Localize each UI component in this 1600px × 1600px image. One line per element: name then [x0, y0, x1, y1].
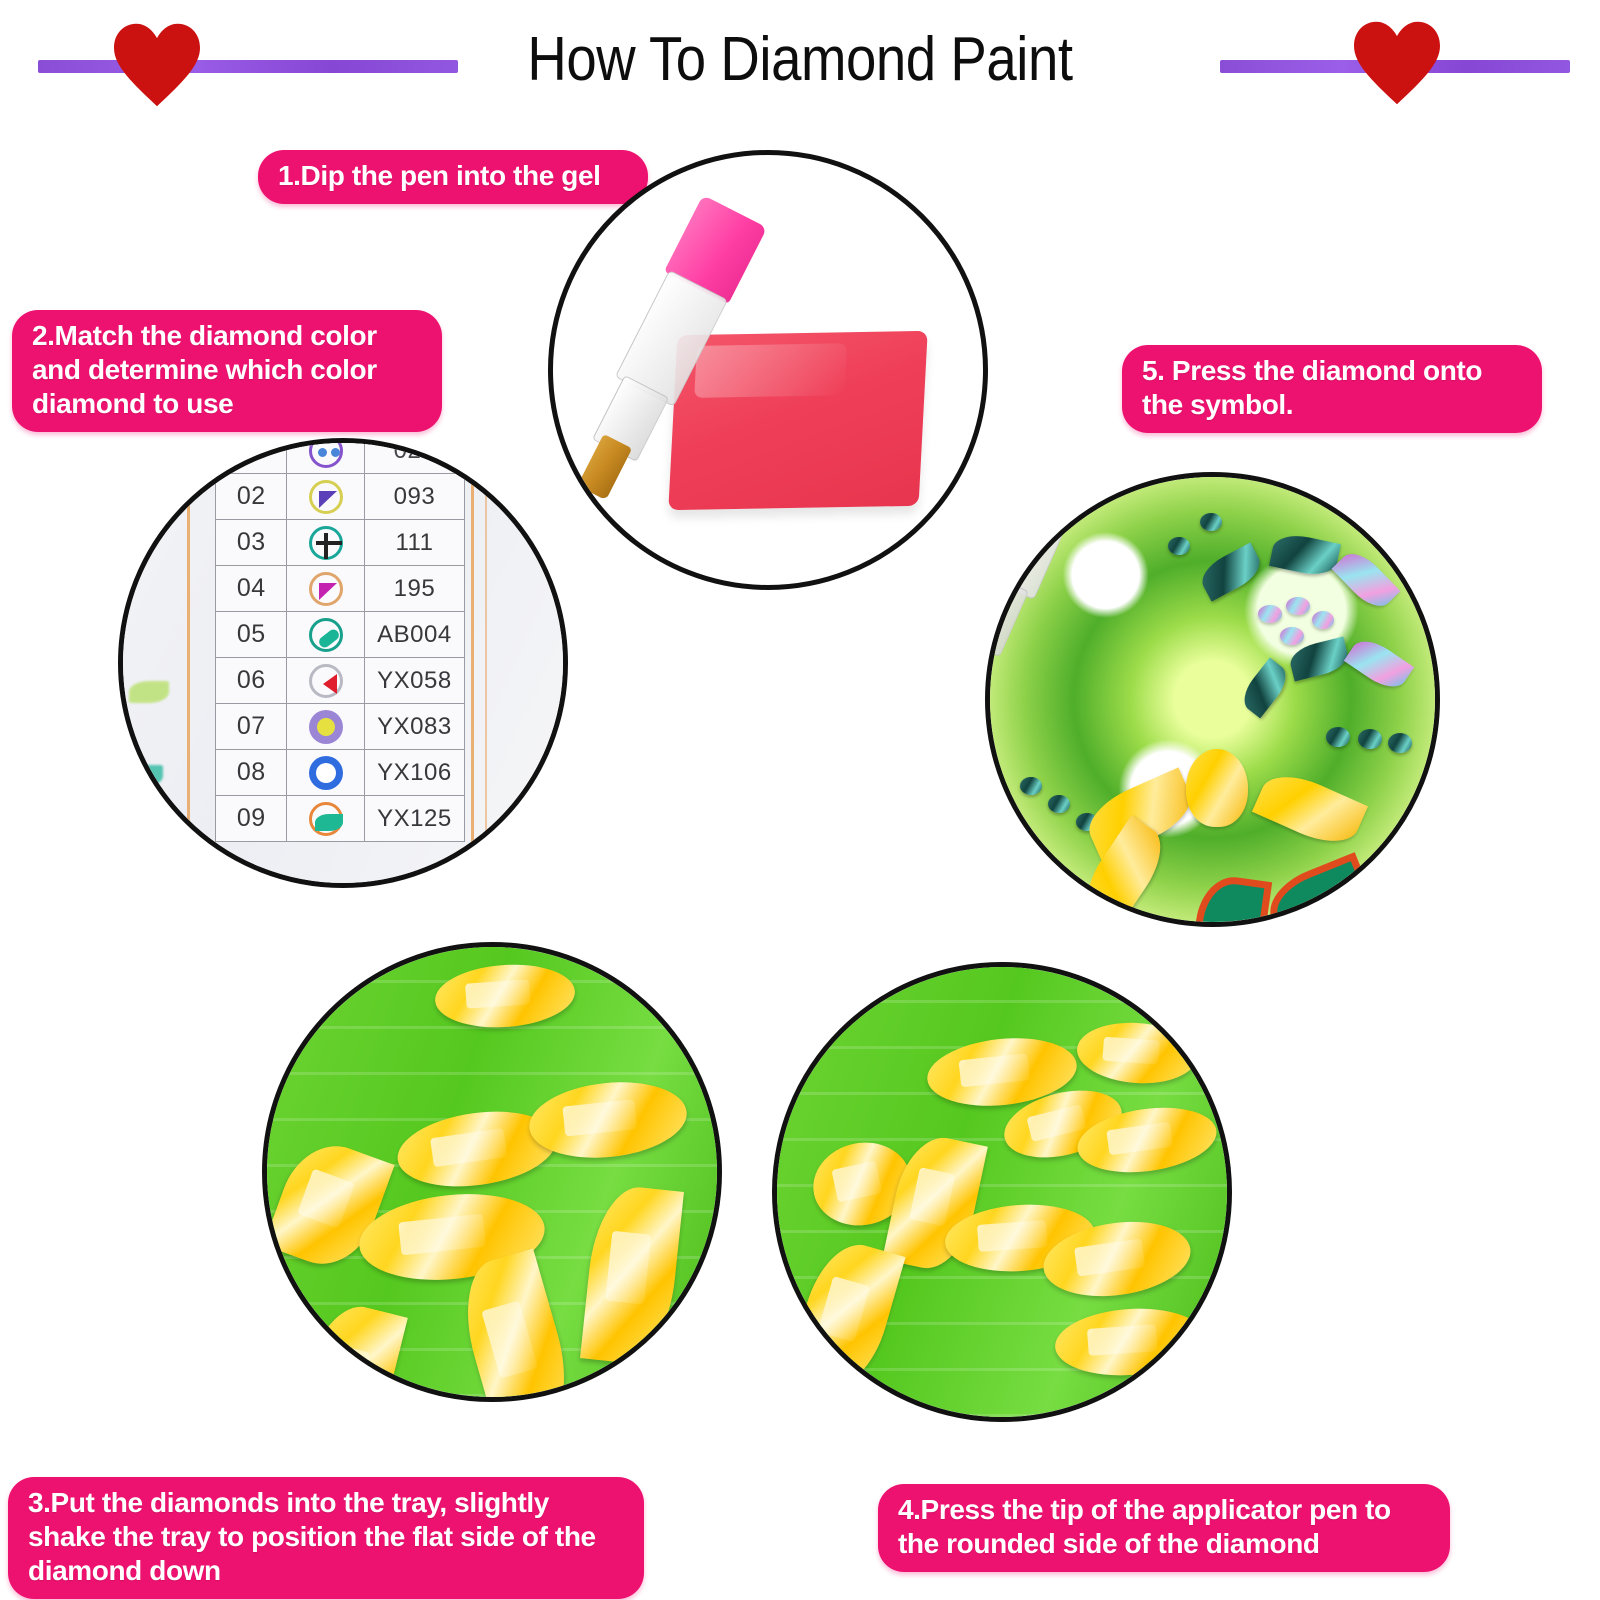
triangle-icon: [309, 572, 343, 606]
yellow-diamond: [1252, 764, 1368, 854]
gem: [1237, 657, 1294, 718]
gem: [1280, 627, 1304, 645]
gem: [1020, 777, 1042, 795]
row-number: 06: [216, 658, 287, 704]
row-symbol: [287, 612, 364, 658]
symbol-code-table-body: 0102802093031110419505AB00406YX05807YX08…: [216, 438, 465, 842]
step-4-label: 4.Press the tip of the applicator pen to…: [878, 1484, 1450, 1572]
table-row: 07YX083: [216, 704, 465, 750]
row-code: 028: [364, 438, 464, 474]
yellow-diamond: [284, 1297, 408, 1402]
page-header: How To Diamond Paint: [0, 0, 1600, 120]
row-number: 04: [216, 566, 287, 612]
yellow-diamond: [786, 1235, 905, 1398]
row-number: 08: [216, 750, 287, 796]
gem: [1326, 727, 1350, 747]
printed-symbol-blur: [129, 681, 169, 703]
gel-block: [668, 331, 927, 510]
table-row: 02093: [216, 474, 465, 520]
printed-petal: [1260, 852, 1378, 927]
row-number: 03: [216, 520, 287, 566]
step-2-label: 2.Match the diamond color and determine …: [12, 310, 442, 432]
triangle-icon: [309, 480, 343, 514]
gem: [1196, 542, 1267, 601]
row-code: YX106: [364, 750, 464, 796]
row-symbol: [287, 658, 364, 704]
gem: [1332, 545, 1401, 615]
table-row: 01028: [216, 438, 465, 474]
row-number: 09: [216, 796, 287, 842]
step-3-photo: [262, 942, 722, 1402]
yellow-diamond: [433, 960, 577, 1032]
symbol-code-table: 0102802093031110419505AB00406YX05807YX08…: [215, 438, 465, 842]
row-symbol: [287, 474, 364, 520]
gem: [1344, 633, 1414, 696]
step-5-photo: [985, 472, 1440, 927]
row-number: 02: [216, 474, 287, 520]
table-row: 08YX106: [216, 750, 465, 796]
printed-symbol-blur: [123, 765, 163, 787]
gem: [1388, 733, 1412, 753]
row-symbol: [287, 520, 364, 566]
row-code: YX058: [364, 658, 464, 704]
filled-dot-icon: [309, 710, 343, 744]
table-row: 04195: [216, 566, 465, 612]
gem: [1358, 729, 1382, 749]
step-2-photo: 0102802093031110419505AB00406YX05807YX08…: [118, 438, 568, 888]
page-title: How To Diamond Paint: [96, 24, 1504, 96]
table-row: 03111: [216, 520, 465, 566]
gem: [1168, 537, 1190, 555]
plus-icon: [309, 526, 343, 560]
row-code: 195: [364, 566, 464, 612]
row-symbol: [287, 750, 364, 796]
canvas-sheet: 0102802093031110419505AB00406YX05807YX08…: [123, 443, 563, 883]
gem: [1269, 531, 1341, 580]
step-4-photo: [772, 962, 1232, 1422]
canvas-guide-line: [485, 443, 487, 883]
row-symbol: [287, 566, 364, 612]
printed-petal: [1190, 873, 1272, 927]
row-number: 05: [216, 612, 287, 658]
yellow-diamond: [1075, 1019, 1199, 1087]
step-1-label: 1.Dip the pen into the gel: [258, 150, 648, 204]
row-number: 01: [216, 438, 287, 474]
gem: [1286, 597, 1310, 615]
step-1-photo: [548, 150, 988, 590]
row-code: YX125: [364, 796, 464, 842]
yellow-diamond-placed: [1186, 749, 1248, 827]
gem: [1048, 795, 1070, 813]
mandala-canvas: [990, 477, 1435, 922]
pen-tip: [577, 434, 632, 500]
row-number: 07: [216, 704, 287, 750]
leaf-icon: [309, 802, 343, 836]
row-symbol: [287, 704, 364, 750]
chevron-left-icon: [309, 664, 343, 698]
diamond-tray: [267, 947, 717, 1397]
double-dot-circle-icon: [309, 438, 343, 468]
diamond-tray: [777, 967, 1227, 1417]
infographic-canvas: How To Diamond Paint 1.Dip the pen into …: [0, 0, 1600, 1600]
yellow-diamond: [1053, 1304, 1207, 1380]
step-5-label: 5. Press the diamond onto the symbol.: [1122, 345, 1542, 433]
row-symbol: [287, 438, 364, 474]
row-symbol: [287, 796, 364, 842]
gem: [1312, 611, 1334, 629]
yellow-diamond: [580, 1183, 684, 1367]
gem: [1258, 605, 1282, 623]
row-code: YX083: [364, 704, 464, 750]
canvas-guide-line: [471, 443, 474, 883]
step-3-label: 3.Put the diamonds into the tray, slight…: [8, 1477, 644, 1599]
row-code: 111: [364, 520, 464, 566]
row-code: AB004: [364, 612, 464, 658]
row-code: 093: [364, 474, 464, 520]
capsule-icon: [309, 618, 343, 652]
ring-icon: [309, 756, 343, 790]
gem: [1200, 513, 1222, 531]
canvas-guide-line: [187, 443, 190, 883]
table-row: 05AB004: [216, 612, 465, 658]
table-row: 09YX125: [216, 796, 465, 842]
table-row: 06YX058: [216, 658, 465, 704]
